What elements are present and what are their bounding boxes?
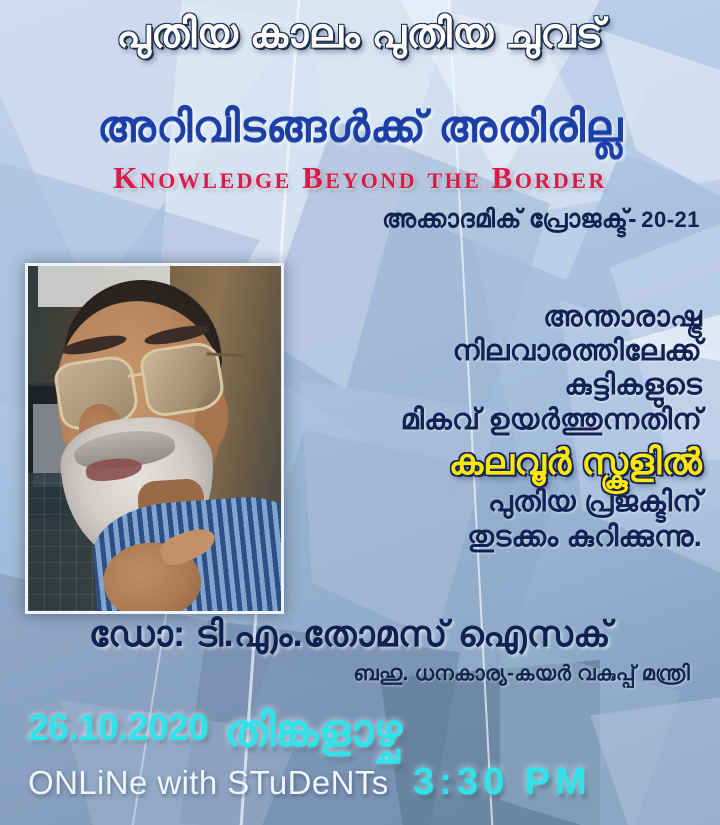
poster-headline: പുതിയ കാലം പുതിയ ചുവട് (0, 12, 720, 57)
message-line: അന്താരാഷ്ട്ര (272, 300, 702, 334)
project-label: അക്കാദമിക് പ്രോജക്ട്- (382, 205, 637, 233)
event-footer: 26.10.2020 തിങ്കളാഴ്ച ONLiNe with STuDeN… (0, 705, 720, 825)
portrait-photo (25, 263, 284, 614)
guest-name: ഡോ: ടി.എം.തോമസ് ഐസക് (0, 613, 700, 656)
event-date-row: 26.10.2020 തിങ്കളാഴ്ച (28, 705, 402, 758)
message-line: പുതിയ പ്രജക്ടിന് (272, 485, 702, 519)
poster-title-malayalam: അറിവിടങ്ങൾക്ക് അതിരില്ല (0, 103, 720, 152)
event-time: 3:30 PM (413, 761, 592, 803)
event-mode: ONLiNe with STuDeNTs (28, 764, 389, 801)
event-day: തിങ്കളാഴ്ച (225, 705, 403, 756)
poster-title-english: Knowledge Beyond the Border (0, 160, 720, 196)
message-line: തുടക്കം കുറിക്കുന്നു. (272, 520, 702, 554)
project-year: 20-21 (641, 207, 700, 232)
poster-canvas: പുതിയ കാലം പുതിയ ചുവട് അറിവിടങ്ങൾക്ക് അത… (0, 0, 720, 825)
message-block: അന്താരാഷ്ട്ര നിലവാരത്തിലേക്ക് കുട്ടികളുട… (272, 300, 702, 554)
message-line: മികവ് ഉയർത്തുന്നതിന് (272, 403, 702, 437)
school-name-highlight: കലവൂർ സ്കൂളിൽ (272, 441, 702, 483)
event-date: 26.10.2020 (28, 707, 208, 748)
event-mode-row: ONLiNe with STuDeNTs 3:30 PM (28, 761, 592, 804)
project-subtitle: അക്കാദമിക് പ്രോജക്ട്- 20-21 (0, 205, 700, 234)
message-line: കുട്ടികളുടെ (272, 368, 702, 402)
guest-role: ബഹു. ധനകാര്യ-കയർ വകുപ്പ് മന്ത്രി (0, 662, 690, 686)
message-line: നിലവാരത്തിലേക്ക് (272, 334, 702, 368)
